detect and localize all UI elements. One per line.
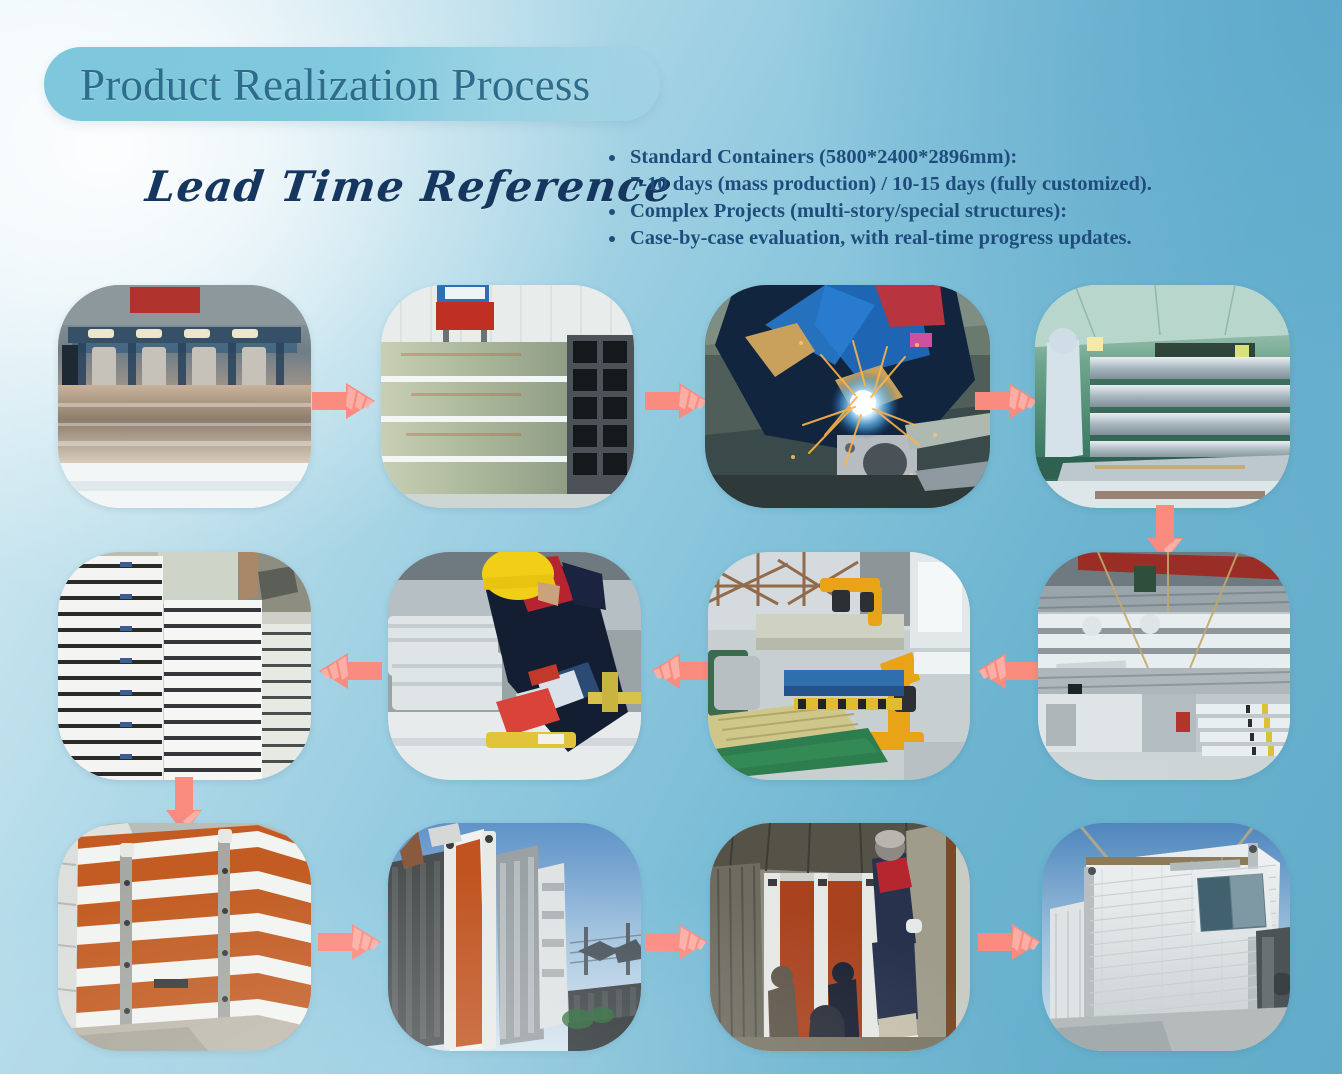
arrow-right-r3-1 <box>318 923 382 961</box>
welding-sparks-worker-photo <box>705 285 990 508</box>
process-tile-step-12 <box>1042 823 1290 1051</box>
finished-wall-panels-stacked-photo <box>58 552 311 780</box>
process-tile-step-6 <box>708 552 970 780</box>
arrow-right-r3-2 <box>645 923 709 961</box>
process-tile-step-7 <box>388 552 641 780</box>
powder-coating-clean-room-photo <box>1035 285 1290 508</box>
arrow-right-r3-3 <box>978 923 1042 961</box>
arrow-right-r1-3 <box>975 382 1039 420</box>
lead-time-heading: Lead Time Reference <box>142 158 676 216</box>
panel-storage-warehouse-photo <box>1038 552 1290 780</box>
process-tile-step-1 <box>58 285 311 508</box>
bullet-dot-icon <box>609 209 615 215</box>
container-loading-yard-photo <box>388 823 641 1051</box>
lead-time-bullet-list: Standard Containers (5800*2400*2896mm): … <box>600 144 1240 252</box>
arrow-right-r1-1 <box>312 382 376 420</box>
arrow-right-r1-2 <box>645 382 709 420</box>
process-tile-step-5 <box>1038 552 1290 780</box>
list-item: Complex Projects (multi-story/special st… <box>600 198 1240 225</box>
arrow-left-r2-1 <box>318 652 382 690</box>
process-tile-step-4 <box>1035 285 1290 508</box>
bullet-text: Complex Projects (multi-story/special st… <box>630 200 1067 222</box>
process-tile-step-10 <box>388 823 641 1051</box>
process-tile-step-11 <box>710 823 970 1051</box>
onsite-assembly-workers-photo <box>710 823 970 1051</box>
process-tile-step-9 <box>58 823 311 1051</box>
arrow-left-r2-2 <box>650 652 714 690</box>
process-tile-step-3 <box>705 285 990 508</box>
bullet-text: Case-by-case evaluation, with real-time … <box>630 227 1132 249</box>
arrow-left-r2-3 <box>976 652 1040 690</box>
process-tile-step-8 <box>58 552 311 780</box>
steel-coil-rolling-line-photo <box>58 285 311 508</box>
finished-container-house-lifted-photo <box>1042 823 1290 1051</box>
bullet-dot-icon <box>609 236 615 242</box>
rockwool-panel-production-line-photo <box>708 552 970 780</box>
page-title: Product Realization Process <box>80 52 590 118</box>
poster-canvas: Product Realization Process Lead Time Re… <box>0 0 1342 1074</box>
bullet-text: Standard Containers (5800*2400*2896mm): … <box>630 146 1152 195</box>
steel-profile-extrusion-stack-photo <box>381 285 634 508</box>
list-item: Case-by-case evaluation, with real-time … <box>600 225 1240 252</box>
bullet-dot-icon <box>609 155 615 161</box>
list-item: Standard Containers (5800*2400*2896mm): … <box>600 144 1240 197</box>
worker-sealant-application-photo <box>388 552 641 780</box>
process-tile-step-2 <box>381 285 634 508</box>
packed-flatpack-container-photo <box>58 823 311 1051</box>
